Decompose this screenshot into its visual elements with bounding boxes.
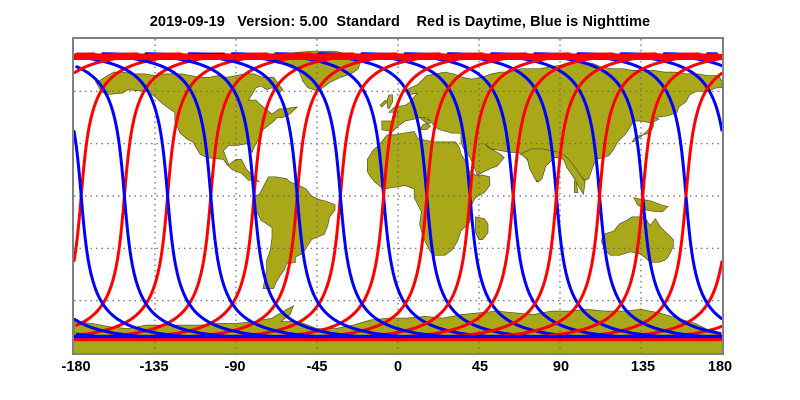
- ground-track-map: 2019-09-19 Version: 5.00 Standard Red is…: [0, 0, 800, 400]
- x-tick-m90: -90: [225, 359, 246, 375]
- x-tick-45: 45: [472, 359, 488, 375]
- x-tick-0: 0: [394, 359, 402, 375]
- plot-area: [72, 37, 724, 355]
- world-map-svg: [74, 39, 722, 353]
- x-tick-90: 90: [553, 359, 569, 375]
- x-tick-135: 135: [631, 359, 655, 375]
- x-tick-180: 180: [708, 359, 732, 375]
- x-tick-m135: -135: [139, 359, 168, 375]
- x-tick-m45: -45: [307, 359, 328, 375]
- x-tick-m180: -180: [61, 359, 90, 375]
